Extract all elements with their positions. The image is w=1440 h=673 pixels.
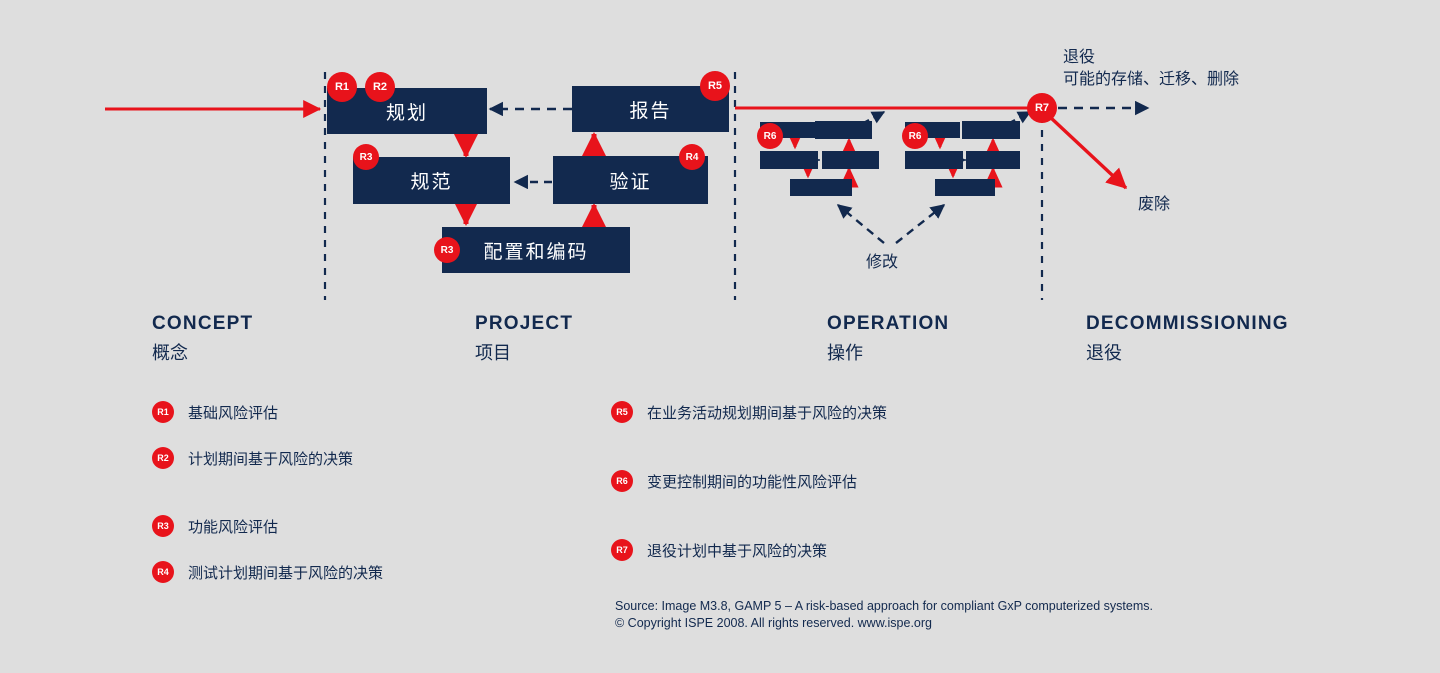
phase-operation-zh: 操作 — [827, 339, 949, 365]
operation-cluster-2-box-top-right[interactable] — [962, 121, 1020, 139]
operation-cluster-1-box-bottom[interactable] — [790, 179, 852, 196]
risk-badge-r7[interactable]: R7 — [1027, 93, 1057, 123]
legend-item-r2: R2 计划期间基于风险的决策 — [152, 447, 383, 469]
source-attribution: Source: Image M3.8, GAMP 5 – A risk-base… — [615, 598, 1153, 632]
legend-text-r4: 测试计划期间基于风险的决策 — [188, 562, 383, 583]
phase-decommissioning-en: DECOMMISSIONING — [1086, 313, 1289, 335]
source-line-1: Source: Image M3.8, GAMP 5 – A risk-base… — [615, 598, 1153, 615]
legend-badge-r7: R7 — [611, 539, 633, 561]
legend-badge-r4: R4 — [152, 561, 174, 583]
planning-box-label: 规划 — [386, 98, 428, 125]
phase-label-operation: OPERATION 操作 — [827, 313, 949, 365]
decommissioning-arrows — [1050, 108, 1148, 188]
phase-decommissioning-zh: 退役 — [1086, 339, 1289, 365]
configuration-coding-box-label: 配置和编码 — [483, 237, 588, 264]
verification-box-label: 验证 — [609, 167, 651, 194]
specification-box-label: 规范 — [410, 167, 452, 194]
legend-text-r2: 计划期间基于风险的决策 — [188, 448, 353, 469]
legend-text-r7: 退役计划中基于风险的决策 — [647, 540, 827, 561]
modification-arrows — [838, 205, 944, 243]
legend-badge-r6: R6 — [611, 470, 633, 492]
phase-concept-en: CONCEPT — [152, 313, 253, 335]
legend-left-column: R1 基础风险评估 R2 计划期间基于风险的决策 R3 功能风险评估 R4 测试… — [152, 401, 383, 583]
legend-badge-r5: R5 — [611, 401, 633, 423]
legend-badge-r1: R1 — [152, 401, 174, 423]
legend-item-r1: R1 基础风险评估 — [152, 401, 383, 423]
legend-right-column: R5 在业务活动规划期间基于风险的决策 R6 变更控制期间的功能性风险评估 R7… — [611, 401, 887, 561]
reporting-box-label: 报告 — [629, 96, 671, 123]
legend-text-r5: 在业务活动规划期间基于风险的决策 — [647, 402, 887, 423]
legend-item-r3: R3 功能风险评估 — [152, 515, 383, 537]
legend-item-r6: R6 变更控制期间的功能性风险评估 — [611, 470, 887, 492]
risk-badge-r2[interactable]: R2 — [365, 72, 395, 102]
legend-badge-r3: R3 — [152, 515, 174, 537]
operation-cluster-2-box-mid-left[interactable] — [905, 151, 963, 169]
legend-item-r5: R5 在业务活动规划期间基于风险的决策 — [611, 401, 887, 423]
phase-project-en: PROJECT — [475, 313, 573, 335]
diagram-canvas: 规划 报告 规范 验证 配置和编码 R1 R2 R3 R3 R4 R5 R7 R… — [0, 0, 1440, 673]
retirement-annotation: 退役 可能的存储、迁移、删除 — [1063, 46, 1239, 90]
legend-text-r1: 基础风险评估 — [188, 402, 278, 423]
phase-concept-zh: 概念 — [152, 339, 253, 365]
configuration-coding-box[interactable]: 配置和编码 — [442, 227, 630, 273]
legend-badge-r2: R2 — [152, 447, 174, 469]
retirement-annotation-line2: 可能的存储、迁移、删除 — [1063, 68, 1239, 90]
risk-badge-r3-specification[interactable]: R3 — [353, 144, 379, 170]
operation-cluster-1-box-mid-left[interactable] — [760, 151, 818, 169]
risk-badge-r3-configuration[interactable]: R3 — [434, 237, 460, 263]
phase-project-zh: 项目 — [475, 339, 573, 365]
source-line-2: © Copyright ISPE 2008. All rights reserv… — [615, 615, 1153, 632]
risk-badge-r4[interactable]: R4 — [679, 144, 705, 170]
risk-badge-r5[interactable]: R5 — [700, 71, 730, 101]
phase-label-concept: CONCEPT 概念 — [152, 313, 253, 365]
operation-cluster-1-box-top-right[interactable] — [815, 121, 872, 139]
retirement-annotation-line1: 退役 — [1063, 46, 1239, 68]
risk-badge-r6-cluster-2[interactable]: R6 — [902, 123, 928, 149]
phase-operation-en: OPERATION — [827, 313, 949, 335]
modification-annotation: 修改 — [866, 251, 898, 273]
legend-item-r4: R4 测试计划期间基于风险的决策 — [152, 561, 383, 583]
phase-label-decommissioning: DECOMMISSIONING 退役 — [1086, 313, 1289, 365]
phase-label-project: PROJECT 项目 — [475, 313, 573, 365]
operation-cluster-1-box-mid-right[interactable] — [822, 151, 879, 169]
legend-text-r3: 功能风险评估 — [188, 516, 278, 537]
legend-item-r7: R7 退役计划中基于风险的决策 — [611, 539, 887, 561]
legend-text-r6: 变更控制期间的功能性风险评估 — [647, 471, 857, 492]
operation-cluster-2-box-mid-right[interactable] — [966, 151, 1020, 169]
operation-cluster-2-box-bottom[interactable] — [935, 179, 995, 196]
risk-badge-r6-cluster-1[interactable]: R6 — [757, 123, 783, 149]
disposal-annotation: 废除 — [1138, 193, 1170, 215]
risk-badge-r1[interactable]: R1 — [327, 72, 357, 102]
